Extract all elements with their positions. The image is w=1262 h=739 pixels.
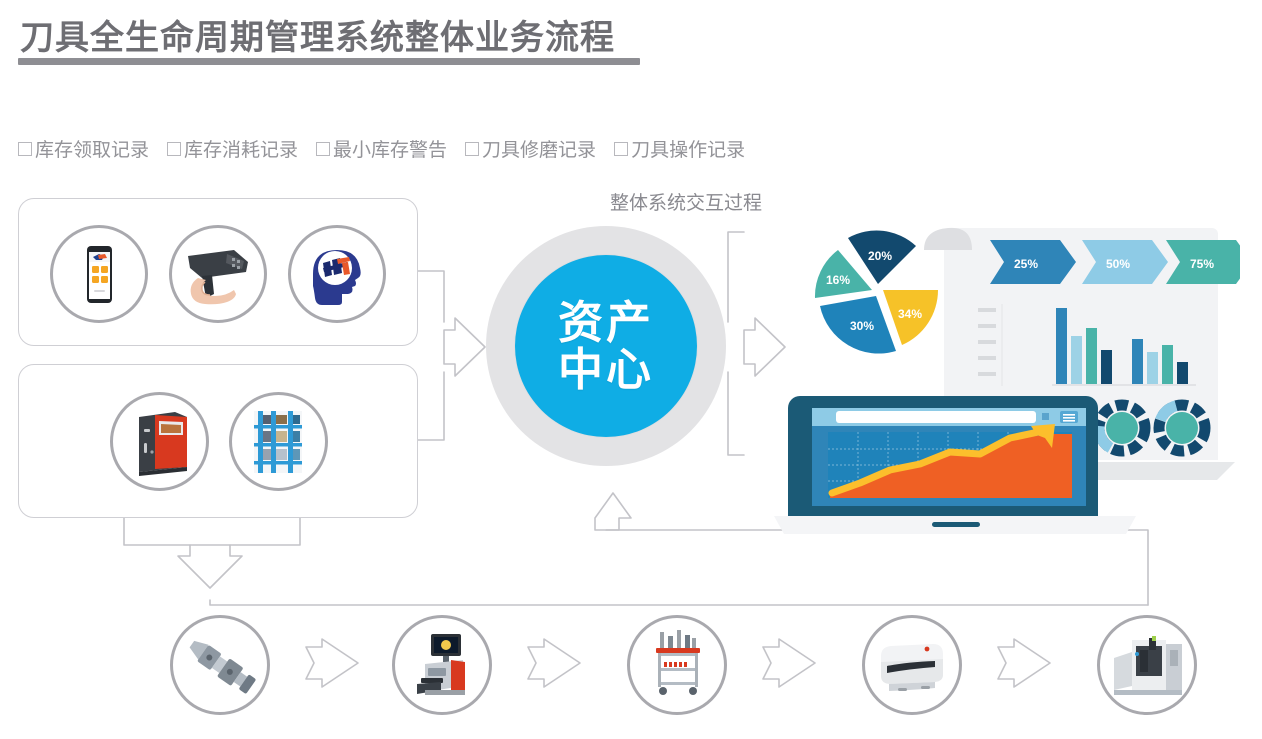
tool-vending-cabinet-icon	[113, 395, 206, 488]
mobile-app-icon	[53, 228, 145, 320]
checkbox-icon[interactable]	[18, 142, 32, 156]
cnc-machining-center-icon	[1100, 618, 1194, 712]
pie-chart-group: 34% 30% 16% 20%	[815, 230, 938, 353]
checkbox-icon[interactable]	[614, 142, 628, 156]
checkbox-label: 库存消耗记录	[184, 135, 298, 162]
chip-tool-trolley[interactable]	[627, 615, 727, 715]
checkbox-item-inventory-consumption[interactable]: 库存消耗记录	[167, 135, 298, 162]
checkbox-item-inventory-pickup[interactable]: 库存领取记录	[18, 135, 149, 162]
title-underline-rule	[18, 58, 640, 65]
checkbox-item-min-stock-alert[interactable]: 最小库存警告	[316, 135, 447, 162]
checkbox-item-tool-regrind[interactable]: 刀具修磨记录	[465, 135, 596, 162]
process-arrow-4	[992, 635, 1056, 691]
checkbox-label: 刀具修磨记录	[482, 135, 596, 162]
checkbox-icon[interactable]	[316, 142, 330, 156]
page-title: 刀具全生命周期管理系统整体业务流程	[20, 10, 615, 59]
chip-agv-robot[interactable]	[862, 615, 962, 715]
hub-asset-center[interactable]: 资产 中心	[515, 255, 697, 437]
progress-chevron-group: 25% 50% 75% 100%	[990, 240, 1240, 284]
checkbox-label: 刀具操作记录	[631, 135, 745, 162]
analytics-dashboard-illustration: 25% 50% 75% 100%	[760, 200, 1240, 540]
svg-text:16%: 16%	[826, 273, 850, 287]
agv-robot-icon	[865, 618, 959, 712]
tool-storage-rack-icon	[232, 395, 325, 488]
process-arrow-1	[300, 635, 364, 691]
tool-holder-assembly-icon	[173, 618, 267, 712]
storage-equipment-group	[18, 364, 418, 518]
checkbox-icon[interactable]	[465, 142, 479, 156]
chip-tool-vending-cabinet[interactable]	[110, 392, 209, 491]
process-arrow-3	[757, 635, 821, 691]
chip-mobile-app[interactable]	[50, 225, 148, 323]
checkbox-label: 最小库存警告	[333, 135, 447, 162]
checkbox-icon[interactable]	[167, 142, 181, 156]
tool-presetter-icon	[395, 618, 489, 712]
svg-text:34%: 34%	[898, 307, 922, 321]
svg-text:25%: 25%	[1014, 257, 1038, 271]
record-type-checkbox-row: 库存领取记录 库存消耗记录 最小库存警告 刀具修磨记录 刀具操作记录	[18, 135, 745, 162]
flow-diagram-canvas: 刀具全生命周期管理系统整体业务流程 库存领取记录 库存消耗记录 最小库存警告 刀…	[0, 0, 1262, 739]
checkbox-label: 库存领取记录	[35, 135, 149, 162]
tool-trolley-icon	[630, 618, 724, 712]
svg-text:75%: 75%	[1190, 257, 1214, 271]
handheld-rfid-scanner-icon	[172, 228, 264, 320]
chip-smart-head[interactable]	[288, 225, 386, 323]
process-arrow-2	[522, 635, 586, 691]
svg-text:50%: 50%	[1106, 257, 1130, 271]
svg-text:30%: 30%	[850, 319, 874, 333]
hub-caption: 整体系统交互过程	[610, 188, 762, 215]
chip-tool-presetter[interactable]	[392, 615, 492, 715]
head-logo-icon	[291, 228, 383, 320]
laptop-graphic	[774, 396, 1136, 534]
chip-handheld-scanner[interactable]	[169, 225, 267, 323]
svg-text:20%: 20%	[868, 249, 892, 263]
chip-cnc-machining-center[interactable]	[1097, 615, 1197, 715]
chip-tool-storage-rack[interactable]	[229, 392, 328, 491]
checkbox-item-tool-operation[interactable]: 刀具操作记录	[614, 135, 745, 162]
chip-tool-holder-assembly[interactable]	[170, 615, 270, 715]
hub-label-line-1: 资产	[558, 299, 654, 346]
hub-label-line-2: 中心	[558, 346, 654, 393]
